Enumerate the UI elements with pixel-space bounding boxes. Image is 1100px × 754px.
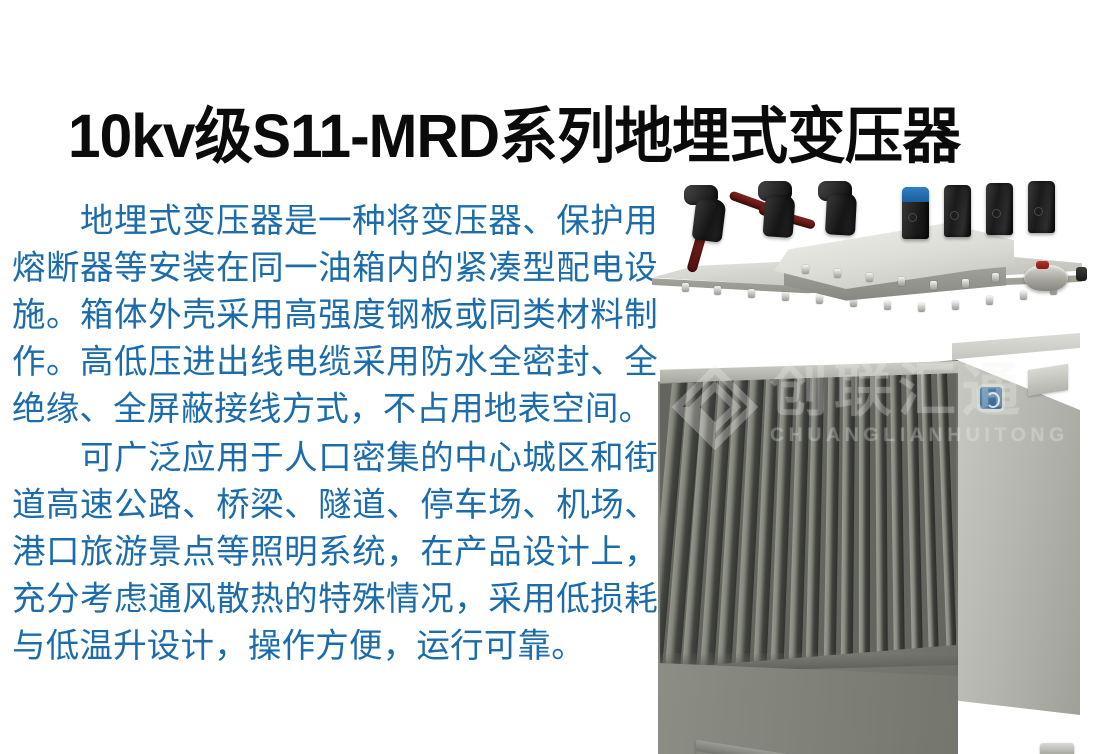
- flange-bolt: [986, 296, 993, 305]
- cover-bolt: [930, 281, 937, 290]
- radiator-fin: [936, 369, 956, 669]
- radiator-fin: [875, 369, 888, 669]
- tank-side-top: [952, 333, 1080, 367]
- flange-bolt: [748, 289, 755, 298]
- cover-bolt: [866, 273, 873, 282]
- radiator-fin: [890, 369, 905, 669]
- lv-bushing: [944, 185, 971, 237]
- flange-bolt: [682, 283, 689, 292]
- lv-bushing: [1028, 181, 1055, 233]
- hv-elbow-connector: [692, 197, 727, 242]
- description-block: 地埋式变压器是一种将变压器、保护用熔断器等安装在同一油箱内的紧凑型配电设施。箱体…: [12, 198, 658, 672]
- cover-bolt: [962, 279, 969, 288]
- tap-changer-knob: [1036, 261, 1049, 269]
- lv-bushing: [986, 183, 1013, 235]
- cover-bolt: [992, 273, 999, 282]
- flange-bolt: [816, 295, 823, 304]
- cover-bolt: [802, 265, 809, 274]
- flange-bolt: [884, 301, 891, 310]
- drain-valve: [1040, 743, 1074, 754]
- radiator-fin: [841, 369, 856, 669]
- hv-elbow-connector: [763, 194, 796, 238]
- paragraph-applications: 可广泛应用于人口密集的中心城区和街道高速公路、桥梁、隧道、停车场、机场、港口旅游…: [12, 435, 658, 670]
- flange-bolt: [918, 303, 925, 312]
- flange-bolt: [782, 292, 789, 301]
- radiator-fin: [859, 369, 871, 669]
- radiator-fin: [905, 369, 922, 669]
- nameplate: [1028, 364, 1068, 396]
- flange-bolt: [1020, 291, 1027, 300]
- product-banner: 10kv级S11-MRD系列地埋式变压器 地埋式变压器是一种将变压器、保护用熔断…: [0, 0, 1100, 754]
- ground-stud: [1076, 267, 1087, 281]
- cover-bolt: [834, 269, 841, 278]
- product-photo: [636, 155, 1100, 754]
- oil-level-gauge: [980, 387, 1002, 409]
- radiator-fin: [823, 369, 840, 669]
- paragraph-overview: 地埋式变压器是一种将变压器、保护用熔断器等安装在同一油箱内的紧凑型配电设施。箱体…: [12, 198, 658, 433]
- cover-bolt: [898, 277, 905, 286]
- radiator-fin-pack: [660, 369, 956, 669]
- flange-bolt: [952, 301, 959, 310]
- hv-elbow-connector: [825, 192, 857, 236]
- flange-bolt: [714, 286, 721, 295]
- lv-bushing-blue: [902, 187, 929, 239]
- tank-side-panel: [952, 343, 1080, 715]
